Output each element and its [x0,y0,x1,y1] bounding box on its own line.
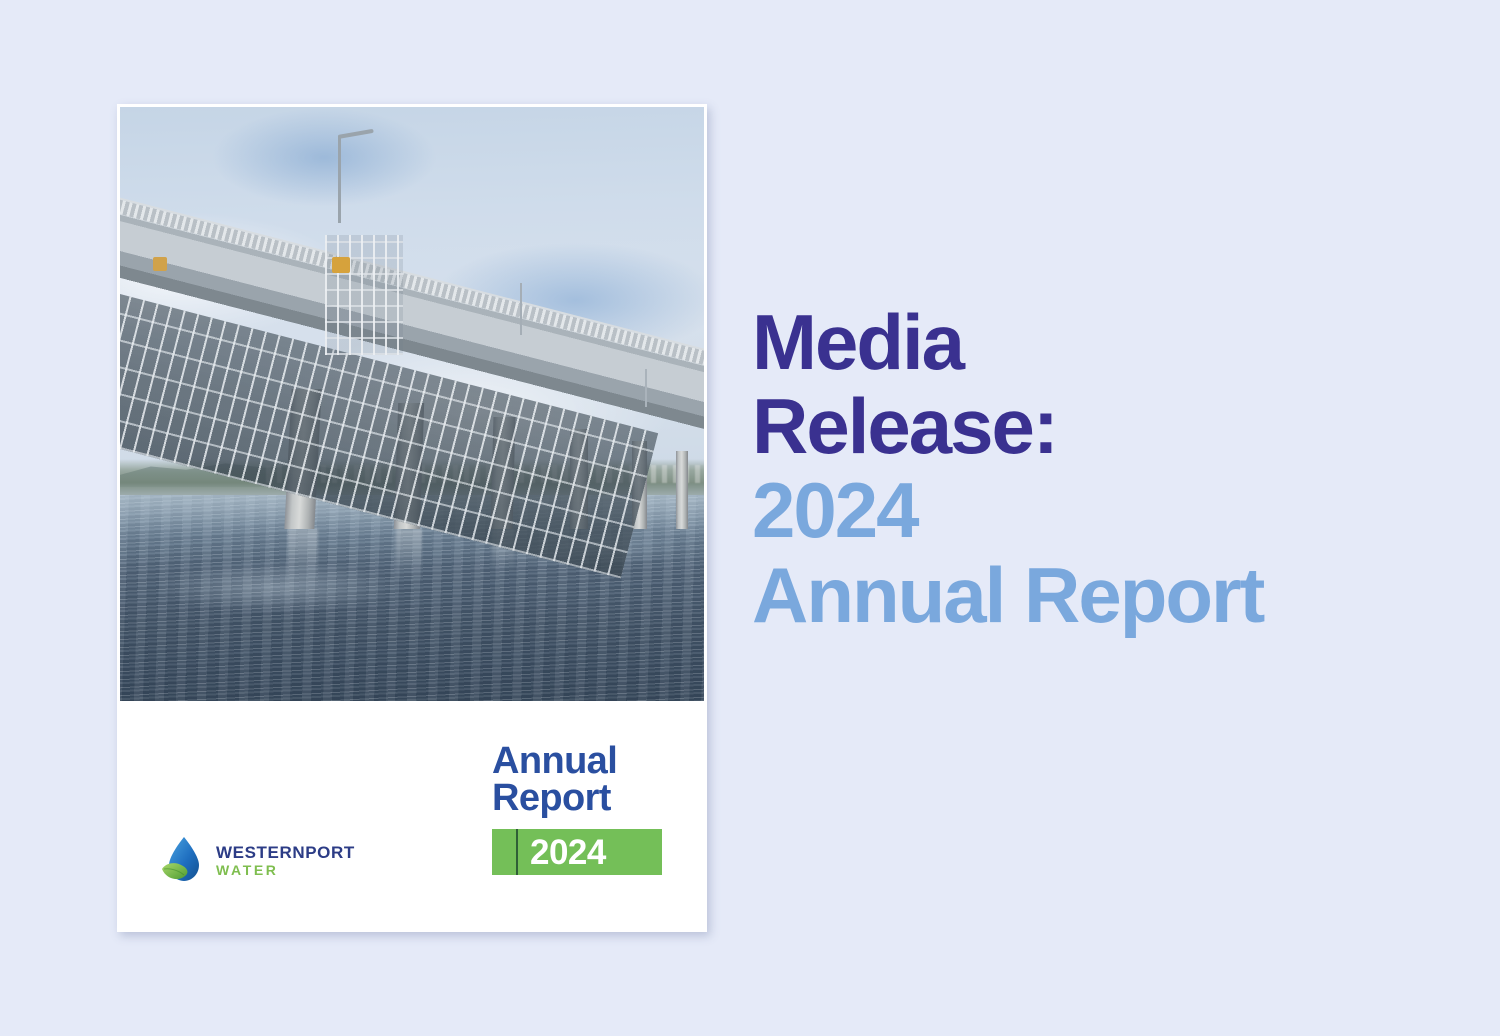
headline-block: Media Release: 2024 Annual Report [752,300,1452,637]
cover-title-block: Annual Report 2024 [492,743,662,875]
logo-wordmark: WESTERNPORT WATER [216,844,355,877]
street-lamp-icon [520,283,522,335]
cover-photo [120,107,704,701]
annual-report-cover-card[interactable]: WESTERNPORT WATER Annual Report 2024 [117,104,707,932]
headline-line-4: Annual Report [752,553,1452,637]
cover-lower-panel: WESTERNPORT WATER Annual Report 2024 [120,701,704,929]
construction-hoist-icon [332,257,350,273]
westernport-water-logo: WESTERNPORT WATER [160,835,355,885]
cover-year-band: 2024 [492,829,662,875]
headline-line-3: 2024 [752,468,1452,552]
cover-year-label: 2024 [530,835,606,870]
street-lamp-icon [338,137,341,223]
headline-line-2: Release: [752,384,1452,468]
water-droplet-leaf-icon [160,835,206,885]
scaffold-tower [325,235,403,355]
logo-word-westernport: WESTERNPORT [216,844,355,861]
construction-hoist-icon [153,257,167,271]
cover-title-line-2: Report [492,780,662,817]
cover-title-line-1: Annual [492,743,662,780]
headline-line-1: Media [752,300,1452,384]
street-lamp-icon [645,369,647,407]
logo-word-water: WATER [216,863,355,877]
page-root: WESTERNPORT WATER Annual Report 2024 Med… [0,0,1500,1036]
